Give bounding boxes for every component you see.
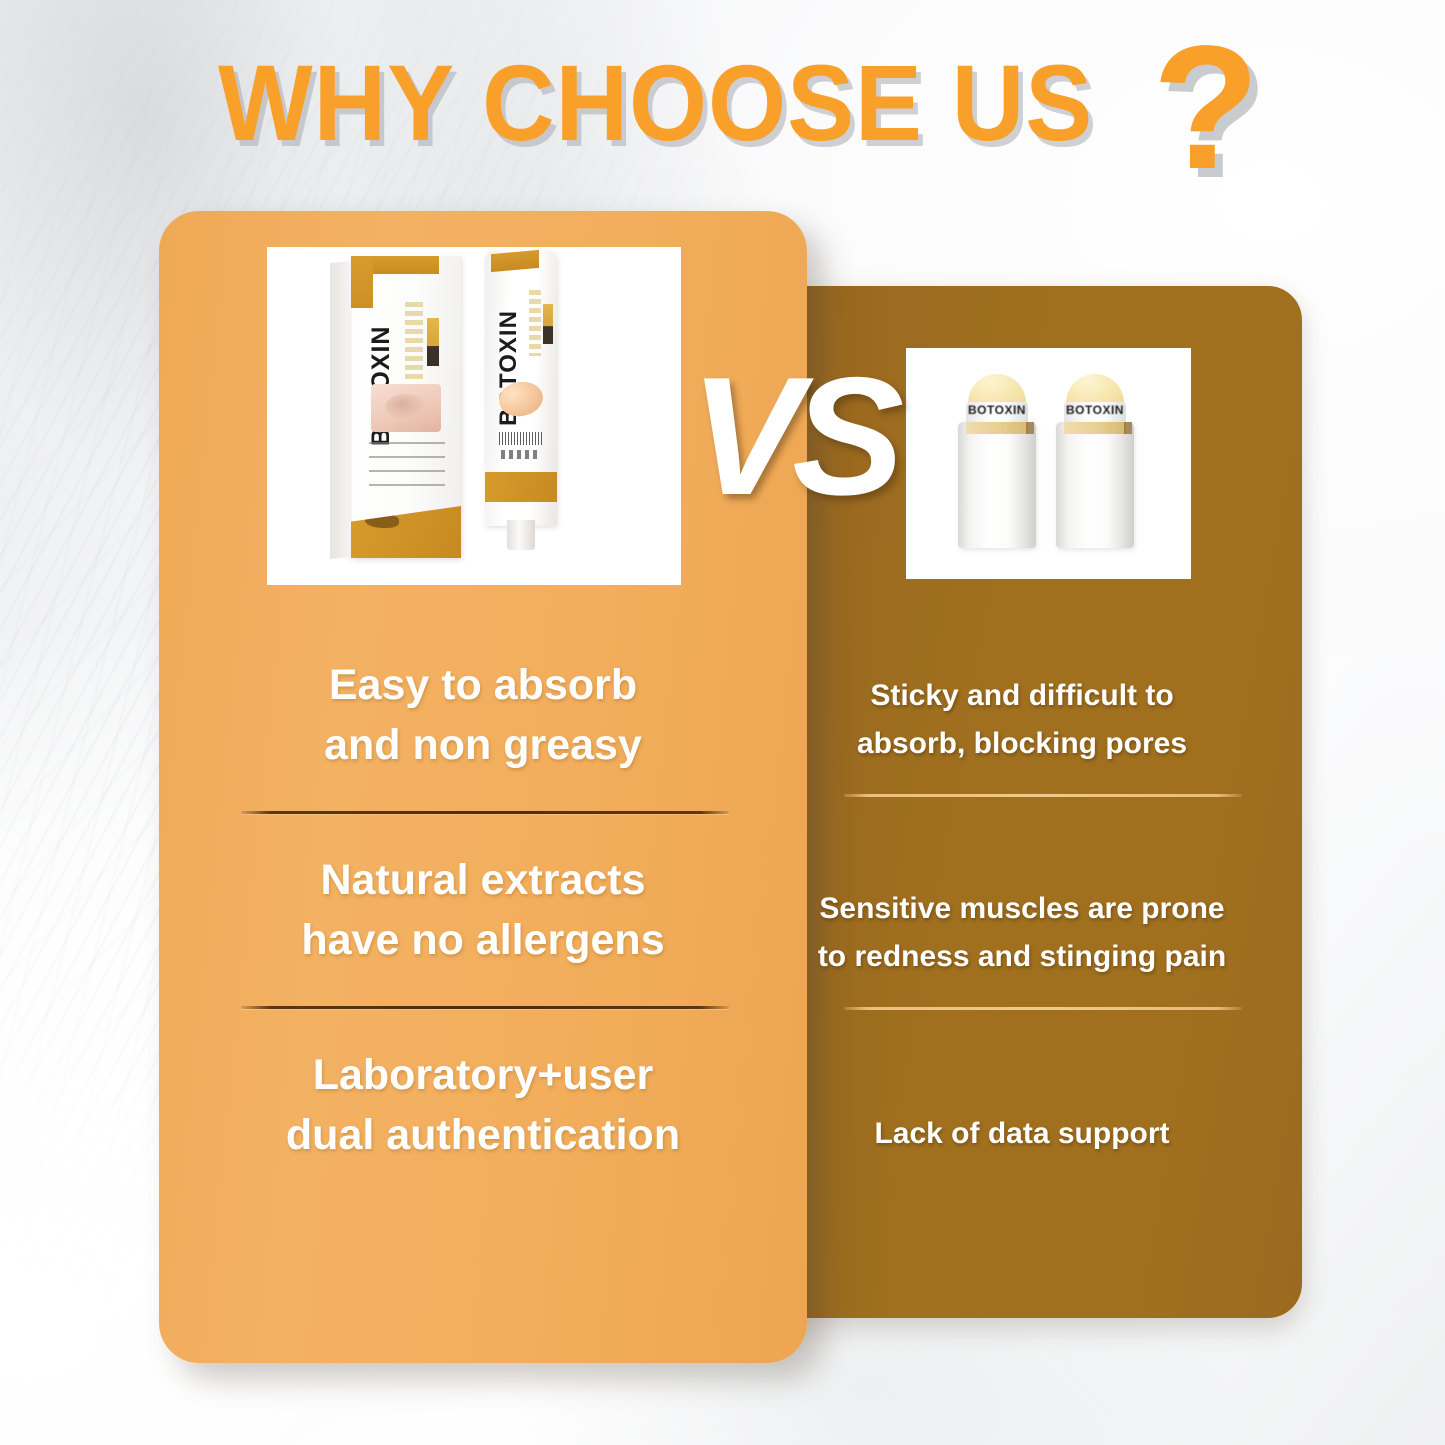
drawback-line: absorb, blocking pores [784, 720, 1260, 768]
versus-badge: VS [690, 352, 894, 520]
carton-subtitle-lines [405, 302, 423, 380]
drawback-line: to redness and stinging pain [784, 933, 1260, 981]
competitor-balm-stick: BOTOXIN [958, 374, 1036, 548]
drawback-item: Lack of data support [742, 1110, 1302, 1158]
our-product-photo: BOTOXIN BOTOXIN [267, 247, 681, 585]
drawback-divider [844, 1007, 1242, 1010]
benefit-line: Easy to absorb [207, 655, 759, 715]
benefit-line: have no allergens [207, 910, 759, 970]
tube-gold-chip [543, 304, 553, 344]
carton-gold-chip [427, 318, 439, 366]
page-title-text: WHY CHOOSE US [218, 34, 1093, 162]
carton-bullet-text [369, 442, 445, 488]
carton-side-panel [330, 261, 352, 559]
tube-bottom-band [485, 472, 557, 502]
infographic-page: WHY CHOOSE US ? BOTOXIN BOTOXIN [0, 0, 1445, 1445]
benefit-line: Laboratory+user [207, 1045, 759, 1105]
tube-footer-text [501, 450, 541, 459]
drawback-item: Sticky and difficult to absorb, blocking… [742, 672, 1302, 768]
stick-body [1056, 422, 1134, 548]
tube-top-band [491, 250, 539, 272]
stick-body [958, 422, 1036, 548]
question-mark-icon: ? [1152, 20, 1260, 196]
benefit-item: Natural extracts have no allergens [159, 850, 807, 970]
carton-top-band [373, 256, 439, 274]
drawback-item: Sensitive muscles are prone to redness a… [742, 885, 1302, 981]
carton-face-illustration [371, 384, 441, 432]
drawback-list: Sticky and difficult to absorb, blocking… [742, 672, 1302, 1158]
spacer [742, 1036, 1302, 1110]
carton-bottom-band [351, 506, 461, 558]
drawback-line: Lack of data support [784, 1110, 1260, 1158]
stick-gold-band [966, 422, 1028, 434]
product-cream-tube: BOTOXIN [485, 250, 557, 526]
competitor-product-photo: BOTOXIN BOTOXIN [906, 348, 1191, 579]
stick-gold-band [1064, 422, 1126, 434]
drawback-divider [844, 794, 1242, 797]
benefit-line: Natural extracts [207, 850, 759, 910]
tube-subtitle-lines [529, 290, 541, 356]
benefit-list: Easy to absorb and non greasy Natural ex… [159, 655, 807, 1165]
drawback-line: Sensitive muscles are prone [784, 885, 1260, 933]
stick-brand-text: BOTOXIN [968, 404, 1026, 417]
benefit-divider [241, 811, 729, 814]
benefit-line: dual authentication [207, 1105, 759, 1165]
benefit-item: Laboratory+user dual authentication [159, 1045, 807, 1165]
benefit-divider [241, 1006, 729, 1009]
spacer [742, 823, 1302, 885]
competitor-balm-stick: BOTOXIN [1056, 374, 1134, 548]
stick-brand-text: BOTOXIN [1066, 404, 1124, 417]
product-carton-box: BOTOXIN [351, 256, 461, 558]
tube-barcode [499, 432, 543, 445]
tube-neck-cap [507, 520, 535, 550]
page-title: WHY CHOOSE US ? [0, 34, 1445, 199]
drawback-line: Sticky and difficult to [784, 672, 1260, 720]
benefit-item: Easy to absorb and non greasy [159, 655, 807, 775]
benefit-line: and non greasy [207, 715, 759, 775]
